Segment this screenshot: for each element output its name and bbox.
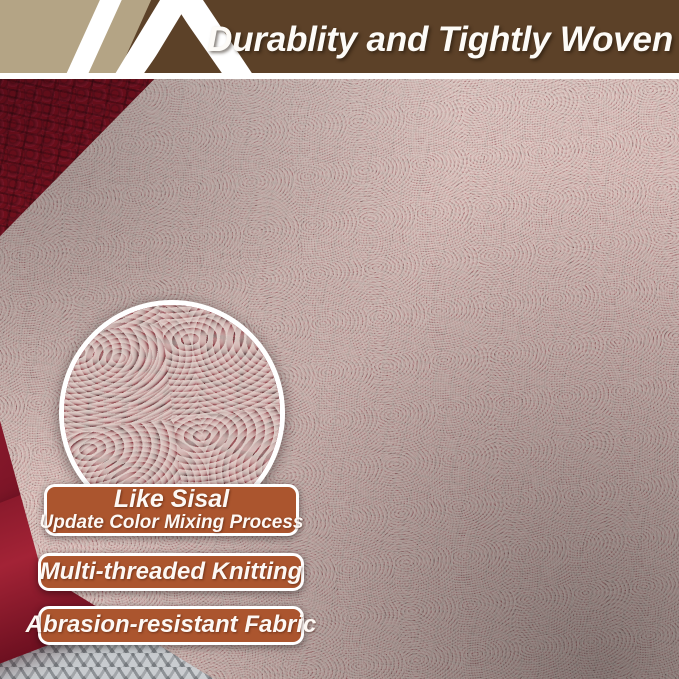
feature-tag-title: Multi-threaded Knitting: [40, 560, 303, 585]
product-feature-image: Durablity and Tightly Woven Like Sisal U…: [0, 0, 679, 679]
feature-tag-title: Like Sisal: [114, 486, 229, 512]
feature-tag-subtitle: Update Color Mixing Process: [40, 513, 304, 534]
feature-tag-sisal[interactable]: Like Sisal Update Color Mixing Process: [44, 484, 299, 536]
m-chevron-logo: [62, 0, 212, 79]
banner-bottom-rule: [0, 73, 679, 79]
feature-tag-title: Abrasion-resistant Fabric: [26, 613, 317, 638]
feature-tag-abrasion[interactable]: Abrasion-resistant Fabric: [38, 606, 304, 645]
feature-tag-knitting[interactable]: Multi-threaded Knitting: [38, 553, 304, 591]
header-title: Durablity and Tightly Woven: [198, 0, 673, 79]
header-banner: Durablity and Tightly Woven: [0, 0, 679, 79]
